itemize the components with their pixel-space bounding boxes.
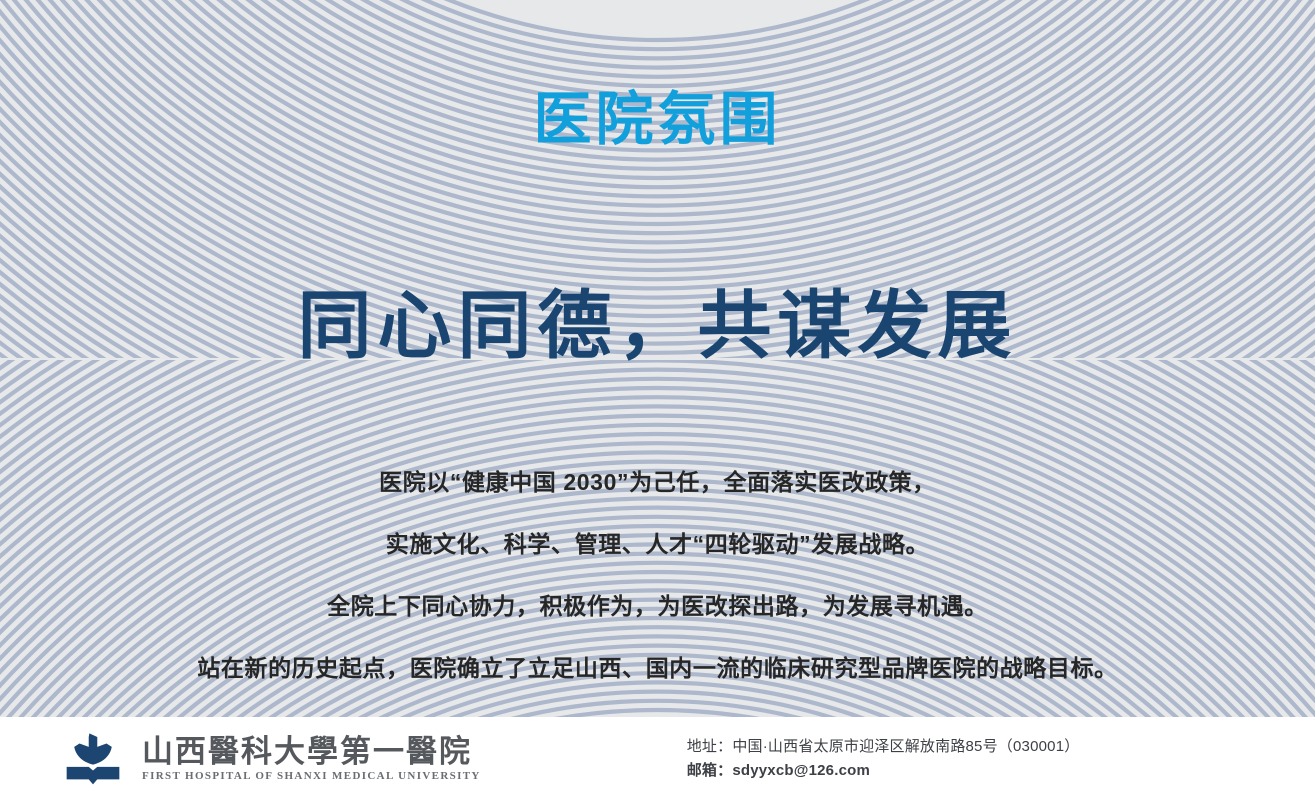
- brand-name-english: FIRST HOSPITAL OF SHANXI MEDICAL UNIVERS…: [142, 769, 481, 783]
- body-line: 站在新的历史起点，医院确立了立足山西、国内一流的临床研究型品牌医院的战略目标。: [0, 649, 1315, 688]
- hospital-brand: 山西醫科大學第一醫院 FIRST HOSPITAL OF SHANXI MEDI…: [60, 732, 481, 786]
- email-line: 邮箱：sdyyxcb@126.com: [687, 759, 1080, 783]
- body-line: 实施文化、科学、管理、人才“四轮驱动”发展战略。: [0, 525, 1315, 564]
- brand-name-chinese: 山西醫科大學第一醫院: [142, 735, 481, 769]
- shanxi-medical-university-emblem-icon: [60, 732, 126, 786]
- body-line: 全院上下同心协力，积极作为，为医改探出路，为发展寻机遇。: [0, 587, 1315, 626]
- slogan-heading: 同心同德，共谋发展: [0, 285, 1315, 368]
- hospital-culture-poster: 医院氛围 同心同德，共谋发展 医院以“健康中国 2030”为己任，全面落实医改政…: [0, 0, 1315, 800]
- poster-content: 医院氛围 同心同德，共谋发展 医院以“健康中国 2030”为己任，全面落实医改政…: [0, 0, 1315, 800]
- body-line: 医院以“健康中国 2030”为己任，全面落实医改政策，: [0, 463, 1315, 502]
- brand-names: 山西醫科大學第一醫院 FIRST HOSPITAL OF SHANXI MEDI…: [142, 735, 481, 783]
- contact-info: 地址：中国·山西省太原市迎泽区解放南路85号（030001） 邮箱：sdyyxc…: [687, 735, 1080, 783]
- address-line: 地址：中国·山西省太原市迎泽区解放南路85号（030001）: [687, 735, 1080, 759]
- page-title: 医院氛围: [0, 87, 1315, 154]
- footer-bar: 山西醫科大學第一醫院 FIRST HOSPITAL OF SHANXI MEDI…: [0, 717, 1315, 800]
